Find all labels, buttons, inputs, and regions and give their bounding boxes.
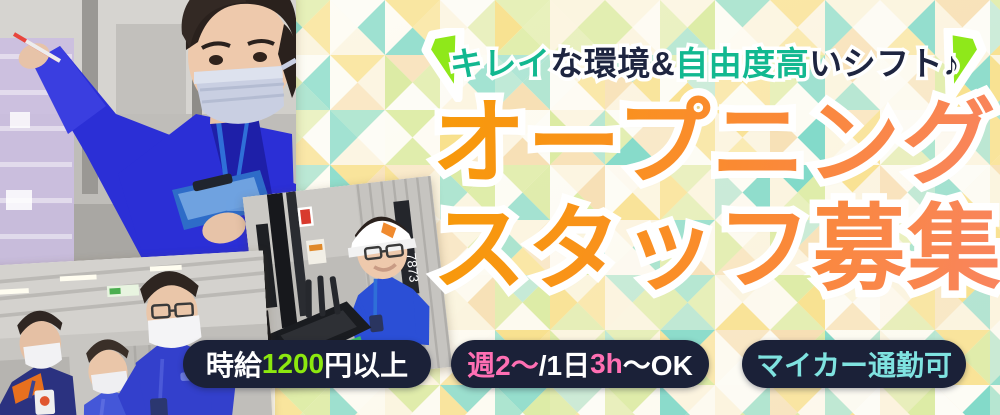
badge-wage-part-1: 時給 <box>206 344 262 384</box>
badge-car-label: マイカー通勤可 <box>756 344 952 384</box>
tagline-part-2: な環境& <box>550 37 675 85</box>
badge-wage-amount: 1200 <box>262 348 324 380</box>
headline-line-1-fill: オープニング <box>432 90 996 195</box>
headline: オープニング オープニング スタッフ募集 スタッフ募集 <box>432 96 992 306</box>
job-ad-banner: 7873 <box>0 0 1000 415</box>
badge-shift-part-1: 週2〜 <box>467 344 539 384</box>
badge-wage-part-3: 円以上 <box>324 344 408 384</box>
badge-car[interactable]: マイカー通勤可 <box>742 340 966 388</box>
headline-line-2: スタッフ募集 スタッフ募集 <box>432 202 992 306</box>
photo-team-briefing <box>0 250 273 415</box>
tagline-part-1: キレイ <box>450 37 551 85</box>
tagline-part-4: いシフト♪ <box>809 37 960 85</box>
badge-shift-part-4: 〜OK <box>623 344 693 384</box>
badge-wage[interactable]: 時給1200円以上 <box>183 340 431 388</box>
tagline-part-3: 自由度高 <box>675 37 809 85</box>
badge-shift[interactable]: 週2〜/1日3h〜OK <box>451 340 709 388</box>
badge-shift-part-2: /1日 <box>539 344 590 384</box>
headline-line-2-fill: スタッフ募集 <box>432 196 1000 301</box>
headline-line-1: オープニング オープニング <box>432 96 992 200</box>
badge-shift-hours: 3h <box>590 348 623 380</box>
tagline: キレイな環境&自由度高いシフト♪ <box>455 33 955 89</box>
